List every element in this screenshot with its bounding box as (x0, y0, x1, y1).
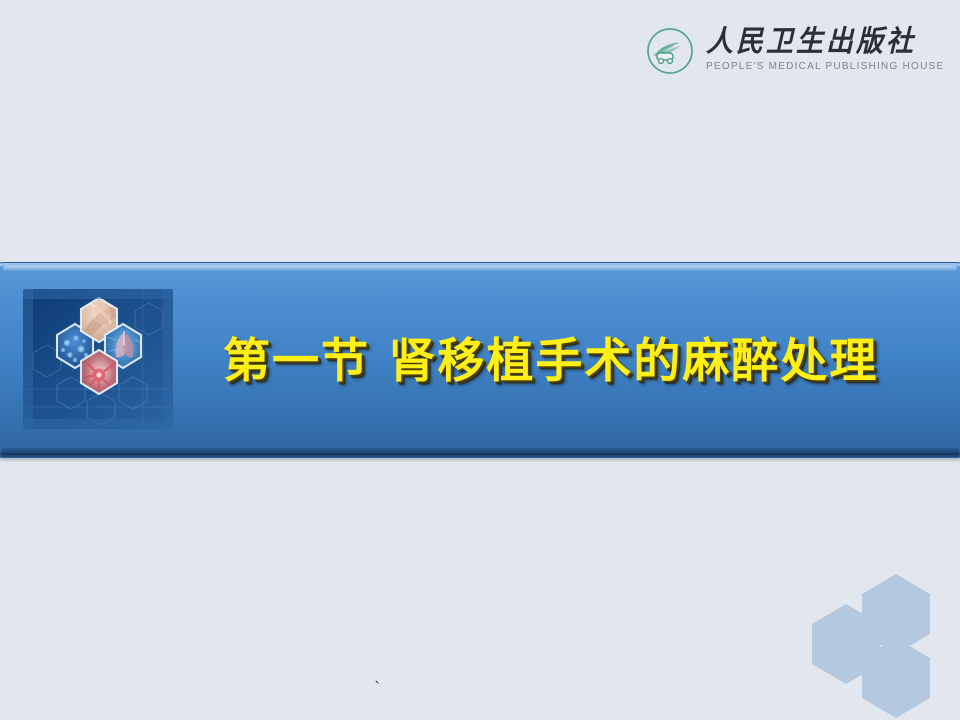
medical-hexagon-collage-image (23, 289, 173, 429)
title-banner: 第一节 肾移植手术的麻醉处理 (0, 262, 960, 458)
publisher-logo: 人民卫生出版社 PEOPLE'S MEDICAL PUBLISHING HOUS… (645, 24, 907, 86)
publisher-name-en: PEOPLE'S MEDICAL PUBLISHING HOUSE (706, 61, 944, 73)
pmph-circular-emblem-icon (645, 25, 697, 77)
stray-mark: ` (374, 681, 382, 696)
hexagon-cluster-icon (800, 556, 960, 720)
page-title: 第一节 肾移植手术的麻醉处理 (223, 263, 925, 459)
slide-canvas: 人民卫生出版社 PEOPLE'S MEDICAL PUBLISHING HOUS… (0, 0, 960, 720)
publisher-name-cn: 人民卫生出版社 (706, 24, 944, 59)
publisher-text-block: 人民卫生出版社 PEOPLE'S MEDICAL PUBLISHING HOUS… (706, 24, 944, 73)
